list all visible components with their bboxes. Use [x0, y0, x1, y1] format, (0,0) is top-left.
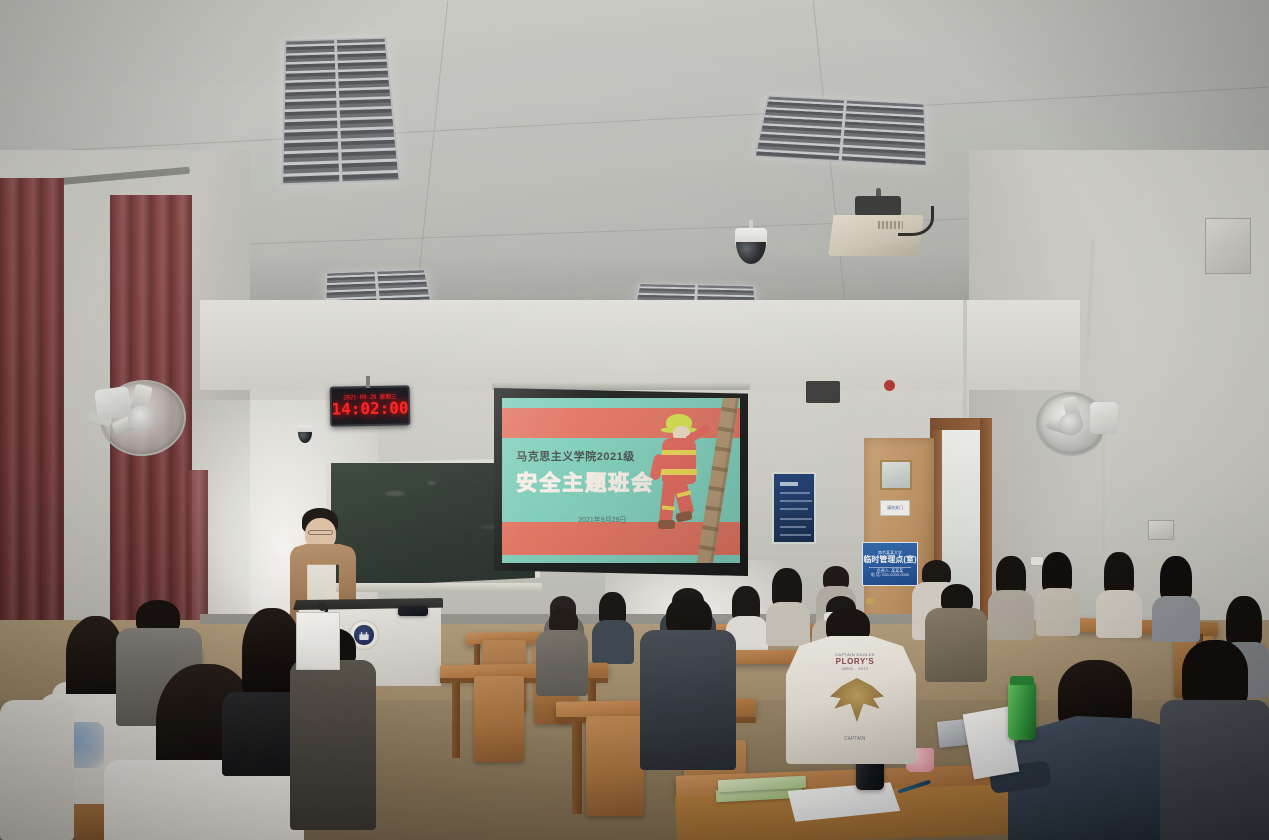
firefighter-leg-back — [659, 479, 677, 524]
door-blue-sign: 南京某某大学 临时管理点(室) 负责人: 某某某 电 话: 025-0000-0… — [862, 542, 918, 586]
notice-board-line — [780, 526, 806, 528]
student-back-10 — [1096, 552, 1142, 634]
student-torso — [290, 660, 376, 830]
student-torso — [536, 630, 588, 696]
notice-board-line — [780, 492, 810, 494]
tshirt-line-bottom: CAPTAIN — [844, 736, 865, 742]
wall-junction-box — [1148, 520, 1174, 540]
sign-main-line: 临时管理点(室) — [863, 556, 916, 565]
desk-leg — [572, 722, 582, 814]
student-back-11 — [1152, 556, 1200, 638]
fan-motor-left — [94, 386, 132, 420]
upper-wall-band — [200, 300, 1080, 390]
notice-board-line — [780, 500, 812, 502]
sign-sub-line-2: 电 话: 025-0000-0000 — [871, 573, 909, 577]
speaker-glasses-icon — [308, 530, 333, 535]
dome-camera-icon — [735, 228, 767, 264]
student-graphic-tee: CAPTAIN EAGLES PLORY'S ORIG . 1972 CAPTA… — [786, 608, 916, 758]
wall-notice-board — [772, 472, 816, 544]
classroom-photo: 2021-09-29 星期三 14:02:00 — [0, 0, 1269, 840]
bottle-cap — [1010, 676, 1034, 685]
student-front-center — [640, 596, 736, 766]
chair — [586, 716, 644, 816]
sensor-dome — [298, 432, 313, 443]
notice-board-line — [780, 534, 811, 536]
green-water-bottle — [1008, 682, 1036, 740]
clock-bracket — [366, 376, 370, 388]
notice-board-line — [780, 508, 808, 510]
notice-board-title — [780, 482, 798, 486]
slide-subtitle: 马克思主义学院2021级 — [516, 448, 634, 464]
notice-board-line — [780, 518, 812, 520]
projector-mount — [855, 196, 901, 216]
ceiling-light-fixture — [281, 37, 401, 185]
podium-control-panel[interactable] — [398, 606, 428, 616]
student-torso — [988, 590, 1034, 640]
student-torso — [1036, 588, 1080, 636]
led-wall-clock: 2021-09-29 星期三 14:02:00 — [330, 385, 411, 426]
desk-leg — [452, 682, 460, 758]
student-torso — [925, 608, 987, 682]
firefighter-stripe — [662, 450, 696, 455]
door-paper-note: 请勿关门 — [880, 500, 910, 516]
student-right-edge-1 — [1160, 640, 1269, 840]
door-handle[interactable] — [866, 598, 875, 604]
wall-speaker — [806, 381, 840, 403]
student-mid-3 — [925, 584, 987, 680]
fan-cable-right — [1102, 430, 1105, 550]
firefighter-belt — [660, 469, 697, 475]
sign-top-line: 南京某某大学 — [878, 551, 902, 555]
firefighter-boot — [658, 520, 675, 529]
chair — [474, 676, 524, 762]
wall-junction-box — [1205, 218, 1251, 274]
presentation-slide: 马克思主义学院2021级 安全主题班会 2021年9月29日 — [502, 398, 740, 563]
student-back-9 — [1036, 552, 1080, 632]
ceiling-light-fixture — [753, 95, 927, 167]
led-clock-time: 14:02:00 — [331, 400, 408, 417]
slide-main-title: 安全主题班会 — [516, 467, 654, 497]
slide-date: 2021年9月29日 — [578, 515, 626, 525]
student-back-2 — [592, 592, 634, 658]
small-dome-sensor-icon — [297, 425, 313, 443]
small-whiteboard — [296, 612, 340, 670]
student-torso — [0, 700, 74, 840]
student-back-8 — [988, 556, 1034, 636]
chalk-smudge — [427, 481, 436, 485]
student-torso — [1096, 590, 1142, 638]
student-torso — [1160, 700, 1269, 840]
student-torso — [1152, 596, 1200, 642]
firefighter-illustration — [646, 414, 716, 538]
tshirt-line-main: PLORY'S — [836, 657, 875, 666]
firefighter-boot — [675, 510, 693, 522]
door-note-text: 请勿关门 — [887, 505, 903, 511]
screen-roller — [492, 381, 750, 390]
student-left-6-far — [0, 700, 74, 840]
ceiling-projector — [828, 200, 924, 256]
projection-screen: 马克思主义学院2021级 安全主题班会 2021年9月29日 — [494, 388, 748, 576]
tshirt-line-sub: ORIG . 1972 — [842, 666, 869, 671]
student-torso — [640, 630, 736, 770]
fire-alarm-icon — [884, 380, 895, 391]
chalk-smudge — [385, 491, 405, 496]
door-window — [880, 460, 912, 490]
student-mid-1 — [536, 608, 588, 694]
student-torso — [592, 620, 634, 664]
camera-dome — [736, 242, 765, 264]
